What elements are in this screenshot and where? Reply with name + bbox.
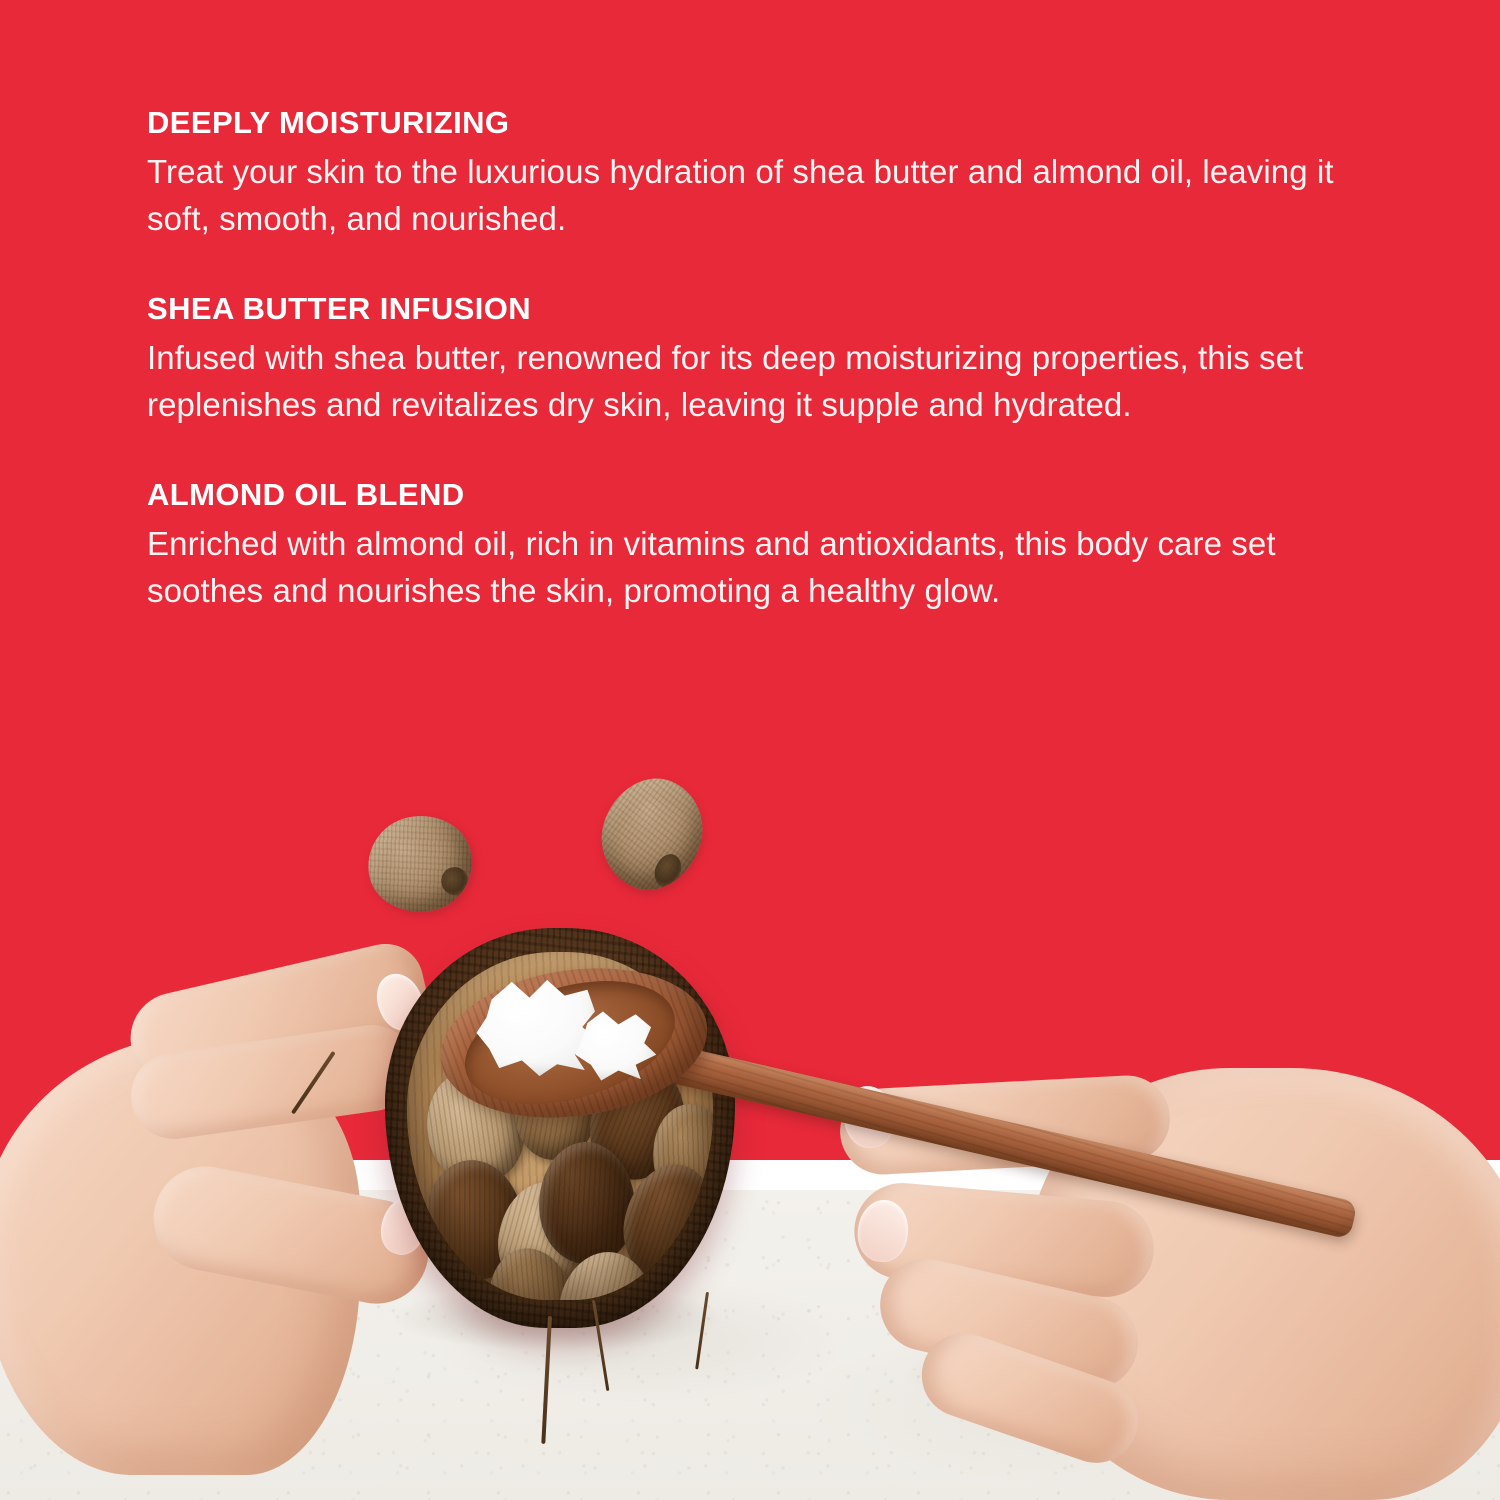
- wooden-spoon: [440, 962, 1450, 1222]
- feature-item-almond-oil-blend: ALMOND OIL BLEND Enriched with almond oi…: [147, 476, 1392, 615]
- loose-nutmeg-right: [586, 764, 719, 905]
- nutmeg-in-bowl: [553, 1247, 658, 1300]
- feature-item-shea-butter-infusion: SHEA BUTTER INFUSION Infused with shea b…: [147, 290, 1392, 429]
- feature-title: SHEA BUTTER INFUSION: [147, 290, 1392, 328]
- feature-body: Treat your skin to the luxurious hydrati…: [147, 148, 1392, 243]
- feature-item-deeply-moisturizing: DEEPLY MOISTURIZING Treat your skin to t…: [147, 104, 1392, 243]
- feature-title: ALMOND OIL BLEND: [147, 476, 1392, 514]
- feature-body: Infused with shea butter, renowned for i…: [147, 334, 1392, 429]
- feature-title: DEEPLY MOISTURIZING: [147, 104, 1392, 142]
- feature-copy-block: DEEPLY MOISTURIZING Treat your skin to t…: [147, 104, 1392, 615]
- left-hand: [0, 975, 450, 1500]
- product-feature-poster: DEEPLY MOISTURIZING Treat your skin to t…: [0, 0, 1500, 1500]
- loose-nutmeg-left: [359, 806, 481, 922]
- feature-body: Enriched with almond oil, rich in vitami…: [147, 520, 1392, 615]
- spoon-handle: [648, 1040, 1358, 1239]
